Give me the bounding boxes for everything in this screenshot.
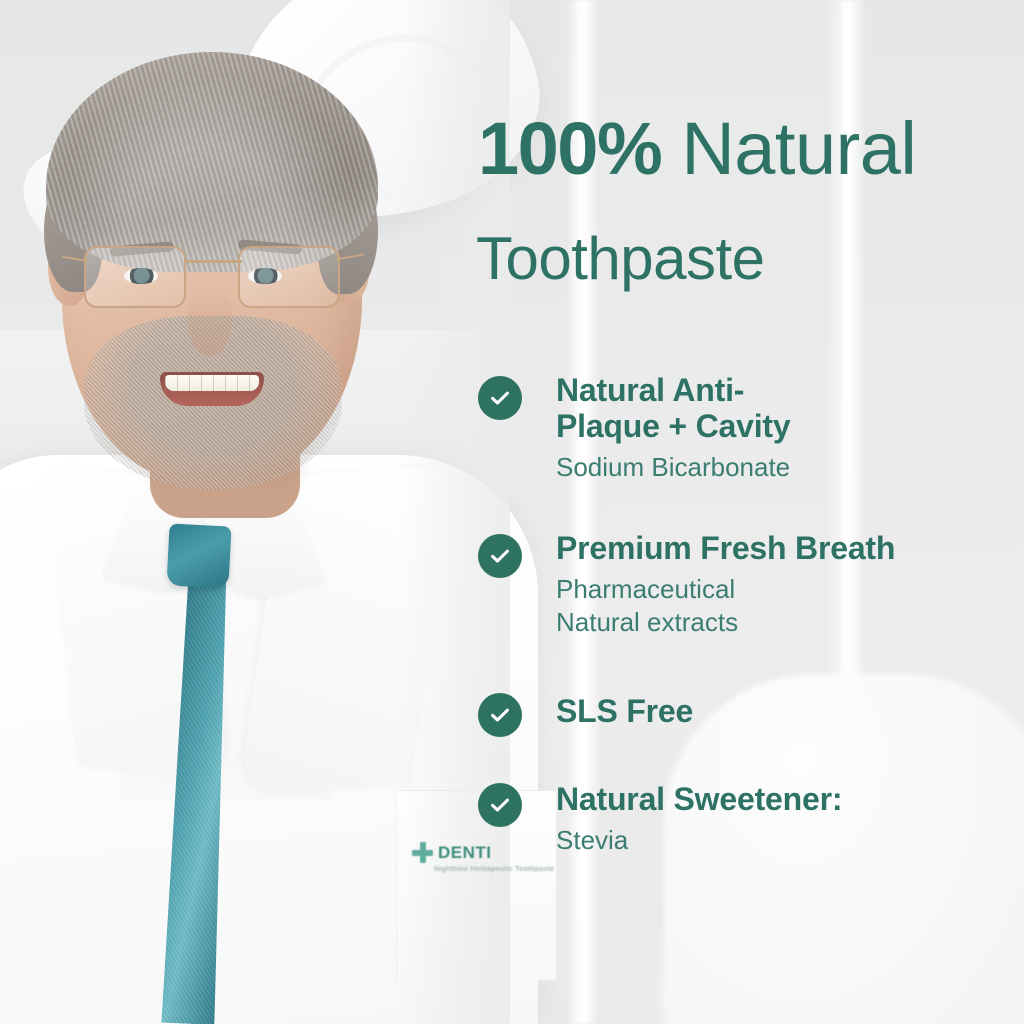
feature-title: SLS Free bbox=[556, 693, 693, 729]
check-icon bbox=[478, 376, 522, 420]
content-column: 100% Natural Toothpaste Natural Anti- Pl… bbox=[0, 0, 1024, 1024]
page-subtitle: Toothpaste bbox=[476, 224, 765, 293]
feature-subtitle: Pharmaceutical Natural extracts bbox=[556, 573, 895, 640]
feature-subtitle: Stevia bbox=[556, 824, 842, 857]
product-infographic-poster: DENTI Nighttime Herbapeutic Toothpaste 1… bbox=[0, 0, 1024, 1024]
list-item: Natural Sweetener: Stevia bbox=[478, 781, 1014, 857]
list-item: Natural Anti- Plaque + Cavity Sodium Bic… bbox=[478, 372, 1014, 484]
feature-text: Natural Sweetener: Stevia bbox=[556, 781, 842, 857]
feature-list: Natural Anti- Plaque + Cavity Sodium Bic… bbox=[478, 372, 1014, 857]
list-item: Premium Fresh Breath Pharmaceutical Natu… bbox=[478, 530, 1014, 639]
feature-text: Premium Fresh Breath Pharmaceutical Natu… bbox=[556, 530, 895, 639]
feature-title: Premium Fresh Breath bbox=[556, 530, 895, 566]
check-icon bbox=[478, 693, 522, 737]
feature-text: Natural Anti- Plaque + Cavity Sodium Bic… bbox=[556, 372, 790, 484]
feature-title: Natural Sweetener: bbox=[556, 781, 842, 817]
list-item: SLS Free bbox=[478, 693, 1014, 737]
page-title: 100% Natural bbox=[478, 112, 1018, 186]
feature-text: SLS Free bbox=[556, 693, 693, 729]
headline-percent: 100% bbox=[478, 107, 661, 190]
headline-word: Natural bbox=[661, 107, 916, 190]
feature-title: Natural Anti- Plaque + Cavity bbox=[556, 372, 790, 445]
check-icon bbox=[478, 783, 522, 827]
feature-subtitle: Sodium Bicarbonate bbox=[556, 451, 790, 484]
check-icon bbox=[478, 534, 522, 578]
